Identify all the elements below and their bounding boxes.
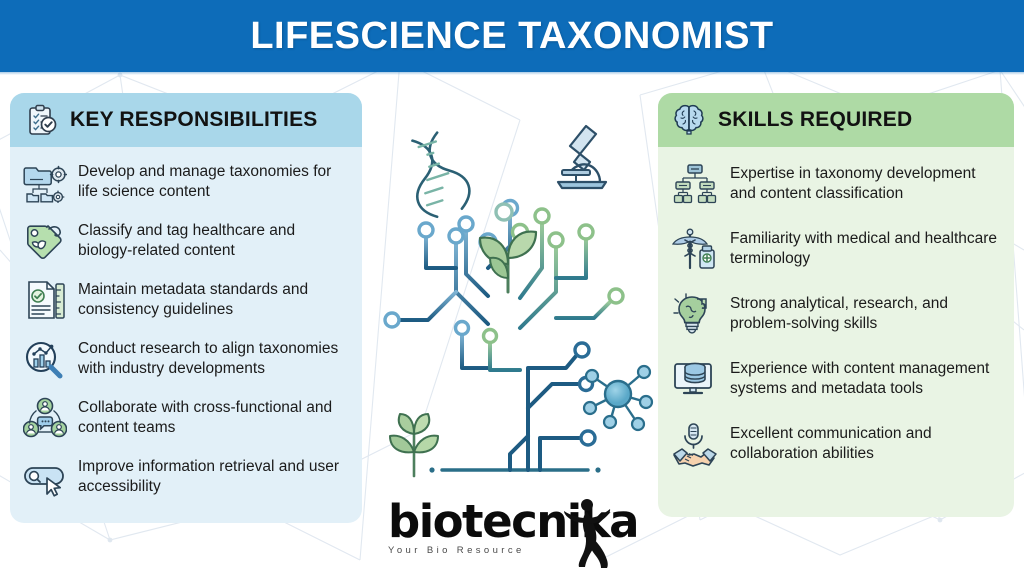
lightbulb-puzzle-icon <box>670 291 720 339</box>
list-item: Conduct research to align taxonomies wit… <box>22 336 350 382</box>
magnifier-chart-icon <box>22 336 68 382</box>
list-item: Familiarity with medical and healthcare … <box>670 226 1002 274</box>
biotecnika-logo: biotecnika Your Bio Resource <box>388 500 640 572</box>
list-item: Excellent communication and collaboratio… <box>670 421 1002 469</box>
list-item: Classify and tag healthcare and biology-… <box>22 218 350 264</box>
list-item-text: Collaborate with cross-functional and co… <box>78 395 350 438</box>
circuit-tree-illustration <box>370 118 660 508</box>
key-responsibilities-header: KEY RESPONSIBILITIES <box>10 93 362 147</box>
microscope-icon <box>558 126 606 188</box>
caduceus-medicine-bottle-icon <box>670 226 720 274</box>
brain-icon <box>670 101 708 139</box>
list-item-text: Conduct research to align taxonomies wit… <box>78 336 350 379</box>
list-item-text: Classify and tag healthcare and biology-… <box>78 218 350 261</box>
list-item-text: Excellent communication and collaboratio… <box>730 421 1002 464</box>
molecule-node-icon <box>584 366 652 430</box>
list-item: Strong analytical, research, and problem… <box>670 291 1002 339</box>
search-bar-cursor-icon <box>22 454 68 500</box>
database-monitor-icon <box>670 356 720 404</box>
team-collaboration-icon <box>22 395 68 441</box>
list-item: Develop and manage taxonomies for life s… <box>22 159 350 205</box>
dna-helix-icon <box>400 128 475 220</box>
skills-required-panel: SKILLS REQUIRED <box>658 93 1014 517</box>
list-item-text: Maintain metadata standards and consiste… <box>78 277 350 320</box>
microphone-handshake-icon <box>670 421 720 469</box>
skills-required-header: SKILLS REQUIRED <box>658 93 1014 147</box>
list-item-text: Experience with content management syste… <box>730 356 1002 399</box>
list-item-text: Expertise in taxonomy development and co… <box>730 161 1002 204</box>
key-responsibilities-title: KEY RESPONSIBILITIES <box>70 108 318 132</box>
list-item: Collaborate with cross-functional and co… <box>22 395 350 441</box>
page-title: LIFESCIENCE TAXONOMIST <box>250 15 773 58</box>
list-item: Experience with content management syste… <box>670 356 1002 404</box>
folder-hierarchy-gears-icon <box>22 159 68 205</box>
list-item-text: Strong analytical, research, and problem… <box>730 291 1002 334</box>
runner-figure-icon <box>562 496 618 568</box>
tag-leaf-icon <box>22 218 68 264</box>
list-item-text: Develop and manage taxonomies for life s… <box>78 159 350 202</box>
org-chart-icon <box>670 161 720 209</box>
list-item: Improve information retrieval and user a… <box>22 454 350 500</box>
key-responsibilities-list: Develop and manage taxonomies for life s… <box>10 147 362 508</box>
list-item-text: Improve information retrieval and user a… <box>78 454 350 497</box>
list-item: Maintain metadata standards and consiste… <box>22 277 350 323</box>
page-header-bar: LIFESCIENCE TAXONOMIST <box>0 0 1024 72</box>
list-item-text: Familiarity with medical and healthcare … <box>730 226 1002 269</box>
key-responsibilities-panel: KEY RESPONSIBILITIES <box>10 93 362 523</box>
leaf-branch-icon <box>390 414 438 476</box>
document-check-ruler-icon <box>22 277 68 323</box>
infographic-canvas: LIFESCIENCE TAXONOMIST <box>0 0 1024 576</box>
list-item: Expertise in taxonomy development and co… <box>670 161 1002 209</box>
clipboard-checklist-icon <box>22 101 60 139</box>
skills-required-title: SKILLS REQUIRED <box>718 108 912 132</box>
skills-required-list: Expertise in taxonomy development and co… <box>658 147 1014 477</box>
